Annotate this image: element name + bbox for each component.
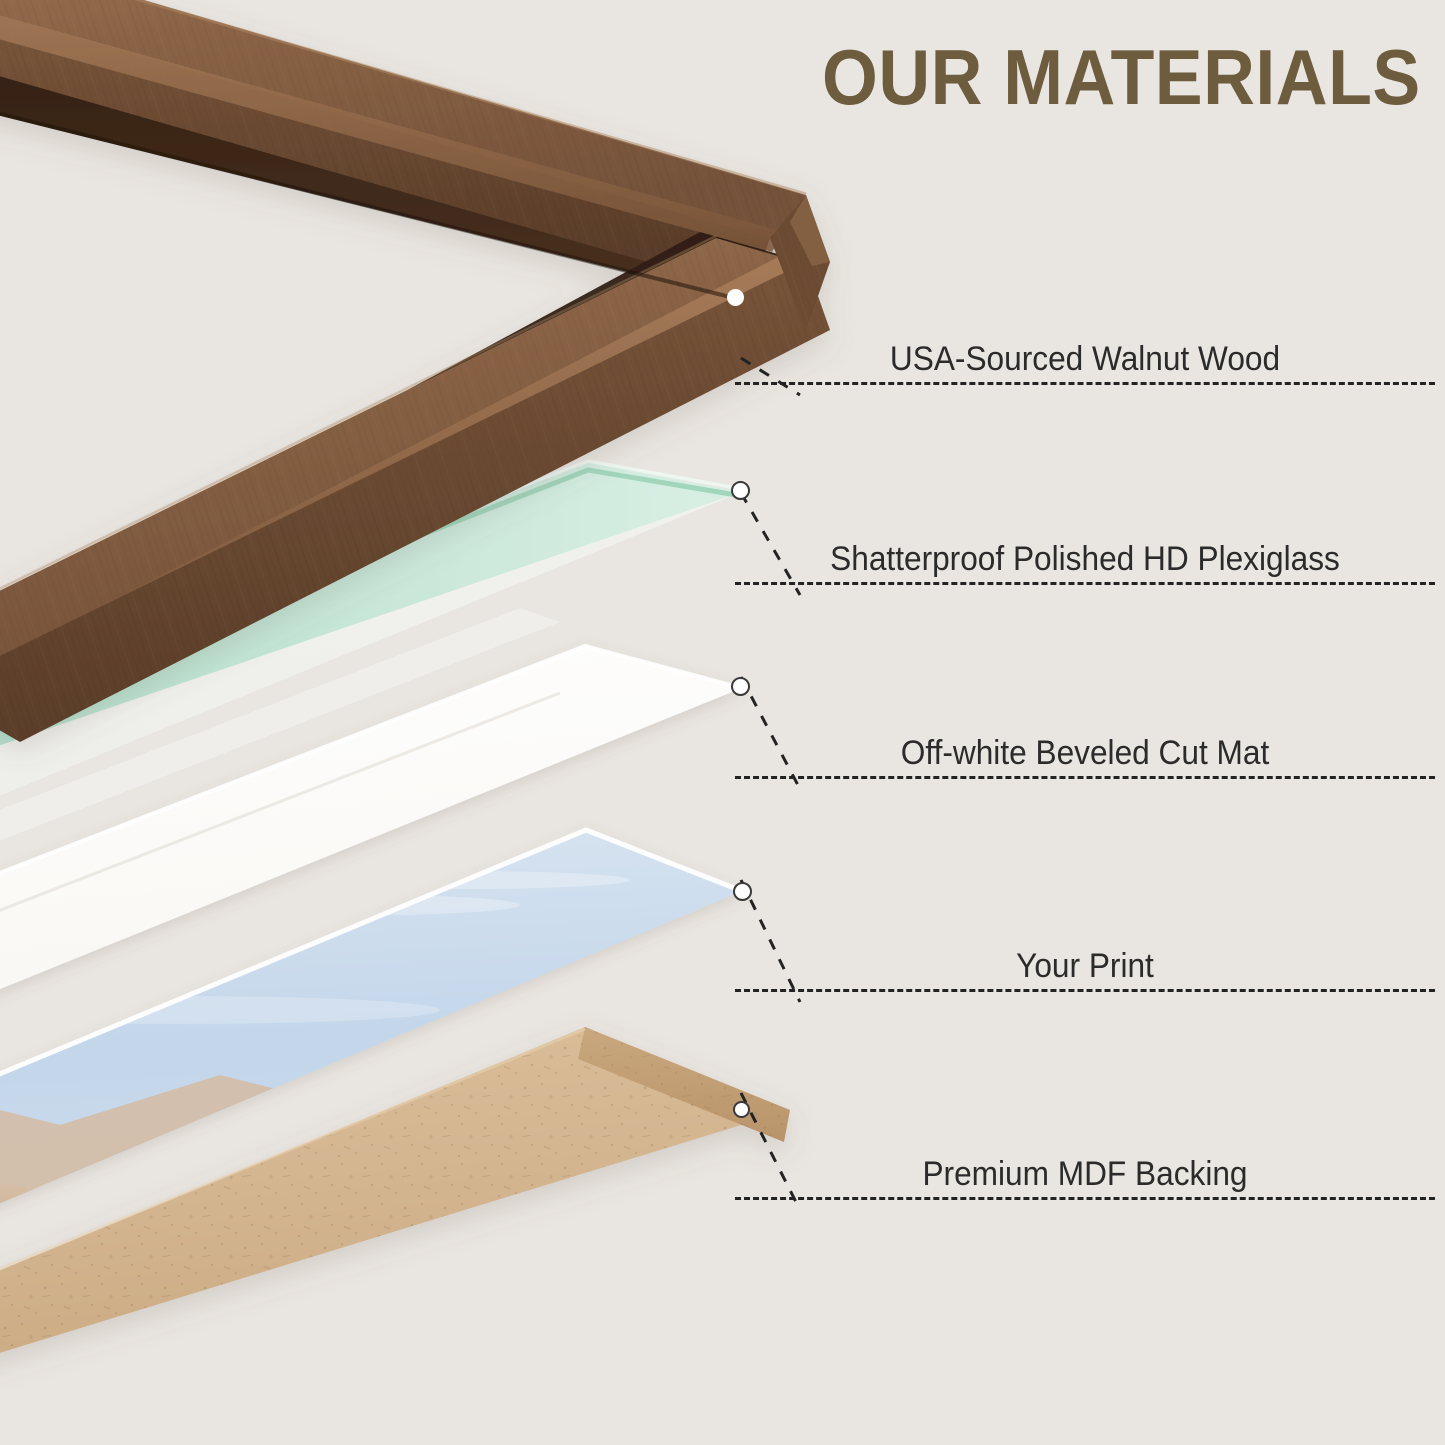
callout-dot-mdf-backing <box>733 1101 750 1118</box>
leader-underline-print <box>735 989 1435 992</box>
callout-label-print: Your Print <box>760 947 1411 986</box>
leader-underline-mat <box>735 776 1435 779</box>
leader-underline-mdf-backing <box>735 1197 1435 1200</box>
leader-underline-walnut-wood <box>735 382 1435 385</box>
leader-underline-plexiglass <box>735 582 1435 585</box>
materials-infographic: OUR MATERIALS USA-Sourced Walnut Wood Sh… <box>0 0 1445 1445</box>
callout-dot-walnut-wood <box>727 289 744 306</box>
callout-label-mat: Off-white Beveled Cut Mat <box>760 734 1411 773</box>
callout-label-mdf-backing: Premium MDF Backing <box>760 1155 1411 1194</box>
callout-label-walnut-wood: USA-Sourced Walnut Wood <box>760 340 1411 379</box>
callout-dot-mat <box>731 677 750 696</box>
callout-dot-plexiglass <box>731 481 750 500</box>
callout-label-plexiglass: Shatterproof Polished HD Plexiglass <box>760 540 1411 579</box>
callout-dot-print <box>733 882 752 901</box>
page-title: OUR MATERIALS <box>822 38 1421 116</box>
